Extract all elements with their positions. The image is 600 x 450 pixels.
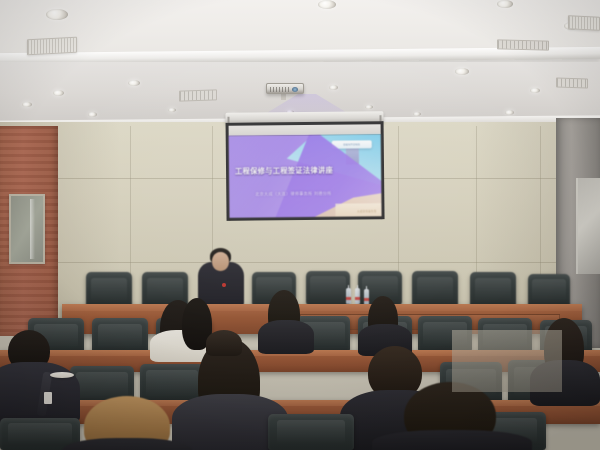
- audience-shoulders: [372, 430, 532, 450]
- stage-chair: [528, 274, 570, 308]
- ceiling-downlight: [46, 9, 68, 20]
- ceiling-air-vent: [568, 15, 600, 31]
- presentation-slide: DENTONS 工程保修与工程签证法律讲座 北京大成（大连）律师事务所 刘德分所…: [229, 134, 382, 218]
- ceiling-air-vent: [179, 89, 217, 101]
- front-desk-surface: [62, 304, 582, 311]
- ceiling-downlight: [329, 85, 338, 90]
- ceiling-downlight: [318, 0, 336, 9]
- ceiling-downlight: [88, 112, 97, 117]
- water-bottle: [364, 289, 369, 305]
- ceiling-downlight: [53, 90, 64, 96]
- framed-wall-plaque: [9, 194, 45, 264]
- stage-chair: [306, 271, 350, 305]
- water-bottle: [355, 288, 360, 304]
- audience-chair: [92, 318, 148, 354]
- slide-watermark: 大成律师事务所: [357, 209, 377, 213]
- audience-chair: [268, 414, 354, 450]
- projection-screen: DENTONS 工程保修与工程签证法律讲座 北京大成（大连）律师事务所 刘德分所…: [225, 111, 384, 221]
- ceiling-downlight: [128, 80, 140, 86]
- slide-subtitle: 北京大成（大连）律师事务所 刘德分所: [255, 190, 365, 197]
- audience-shoulders: [258, 320, 314, 354]
- floor-aisle: [452, 330, 562, 392]
- ceiling-air-vent: [497, 39, 549, 50]
- slide-banner-label: DENTONS: [332, 140, 372, 148]
- audience-head: [206, 330, 242, 356]
- projector-mount: [281, 94, 286, 100]
- speaker-head: [212, 252, 229, 271]
- water-bottle: [346, 288, 351, 304]
- ceiling-downlight: [365, 105, 373, 109]
- wall-frame-right: [576, 178, 600, 274]
- ceiling-downlight: [455, 68, 469, 75]
- ceiling-downlight: [168, 108, 176, 112]
- slide-logo-banner: DENTONS: [332, 140, 372, 148]
- conference-room-photo: DENTONS 工程保修与工程签证法律讲座 北京大成（大连）律师事务所 刘德分所…: [0, 0, 600, 450]
- ceiling-projector: [266, 83, 304, 94]
- ceiling-air-vent: [556, 77, 588, 88]
- speaker-lapel-badge: [222, 283, 226, 287]
- desk-surface: [0, 400, 600, 406]
- stage-chair: [470, 272, 516, 308]
- stage-chair: [412, 271, 458, 307]
- paper-on-desk: [50, 372, 74, 378]
- ceiling-downlight: [22, 102, 32, 107]
- ceiling-downlight: [413, 112, 421, 116]
- stage-chair: [86, 272, 132, 308]
- projector-vents: [270, 87, 290, 92]
- ceiling-downlight: [530, 88, 540, 93]
- slide-title: 工程保修与工程签证法律讲座: [235, 165, 359, 175]
- projector-lens-icon: [292, 87, 298, 92]
- strap-buckle: [44, 392, 52, 404]
- ceiling-downlight: [497, 0, 513, 8]
- ceiling-downlight: [505, 110, 514, 115]
- ceiling-air-vent: [27, 37, 77, 56]
